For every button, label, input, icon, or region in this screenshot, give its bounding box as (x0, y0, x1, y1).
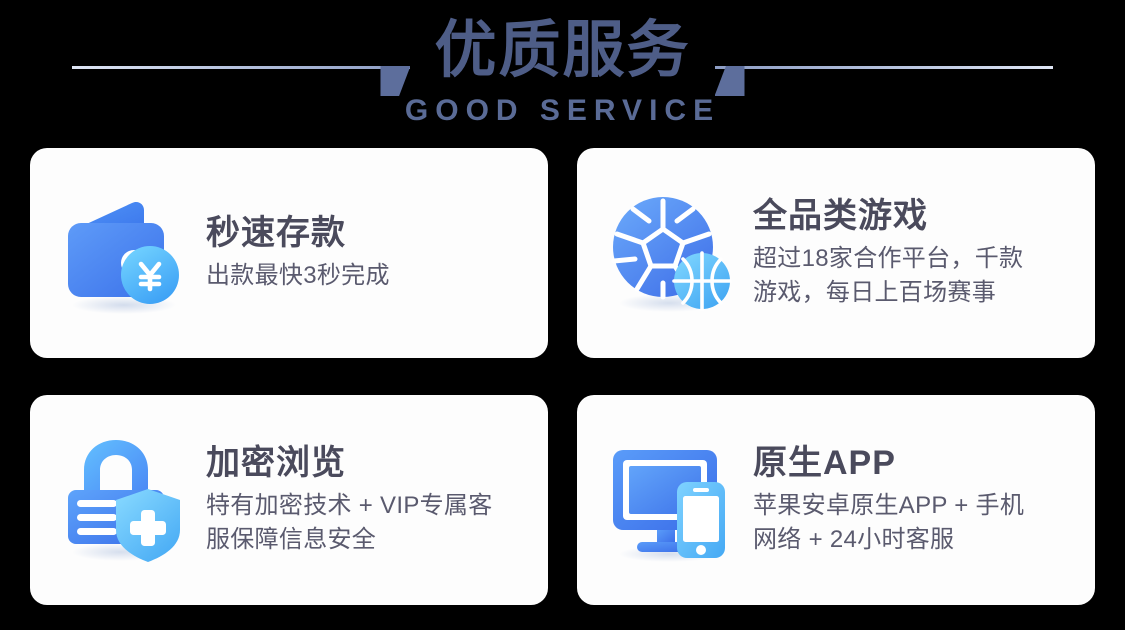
card-description: 出款最快3秒完成 (206, 259, 526, 292)
card-desc-line: 苹果安卓原生APP + 手机 (753, 489, 1073, 522)
card-title: 全品类游戏 (753, 197, 1073, 235)
page-subtitle: GOOD SERVICE (0, 96, 1125, 126)
card-desc-line: 游戏，每日上百场赛事 (753, 276, 1073, 309)
monitor-phone-icon (605, 434, 737, 566)
lock-shield-icon (58, 434, 190, 566)
service-feature-banner: 优质服务 GOOD SERVICE (0, 0, 1125, 630)
feature-card-deposit[interactable]: 秒速存款 出款最快3秒完成 (30, 148, 548, 358)
decoration-slash-right-icon (715, 66, 745, 96)
card-title: 秒速存款 (206, 214, 526, 252)
decoration-slash-left-icon (380, 66, 410, 96)
decoration-line-left-icon (72, 66, 410, 69)
feature-card-native-app[interactable]: 原生APP 苹果安卓原生APP + 手机 网络 + 24小时客服 (577, 395, 1095, 605)
card-desc-line: 网络 + 24小时客服 (753, 523, 1073, 556)
card-desc-line: 超过18家合作平台，千款 (753, 242, 1073, 275)
feature-card-text: 原生APP 苹果安卓原生APP + 手机 网络 + 24小时客服 (753, 444, 1073, 555)
feature-card-grid: 秒速存款 出款最快3秒完成 (30, 148, 1095, 610)
card-description: 特有加密技术 + VIP专属客 服保障信息安全 (206, 489, 526, 555)
wallet-icon (58, 187, 190, 319)
soccer-basketball-icon (605, 187, 737, 319)
decoration-line-right-icon (715, 66, 1053, 69)
card-title: 原生APP (753, 444, 1073, 482)
feature-card-encryption[interactable]: 加密浏览 特有加密技术 + VIP专属客 服保障信息安全 (30, 395, 548, 605)
decoration-right (705, 26, 1087, 76)
card-desc-line: 特有加密技术 + VIP专属客 (206, 489, 526, 522)
card-desc-line: 服保障信息安全 (206, 523, 526, 556)
card-description: 超过18家合作平台，千款 游戏，每日上百场赛事 (753, 242, 1073, 308)
decoration-left (38, 26, 420, 76)
feature-card-text: 加密浏览 特有加密技术 + VIP专属客 服保障信息安全 (206, 444, 526, 555)
feature-card-text: 秒速存款 出款最快3秒完成 (206, 214, 526, 292)
feature-card-games[interactable]: 全品类游戏 超过18家合作平台，千款 游戏，每日上百场赛事 (577, 148, 1095, 358)
header-title-row: 优质服务 (0, 8, 1125, 94)
feature-card-text: 全品类游戏 超过18家合作平台，千款 游戏，每日上百场赛事 (753, 197, 1073, 308)
card-description: 苹果安卓原生APP + 手机 网络 + 24小时客服 (753, 489, 1073, 555)
card-desc-line: 出款最快3秒完成 (206, 259, 526, 292)
card-title: 加密浏览 (206, 444, 526, 482)
banner-header: 优质服务 GOOD SERVICE (0, 0, 1125, 148)
page-title: 优质服务 (420, 20, 704, 82)
